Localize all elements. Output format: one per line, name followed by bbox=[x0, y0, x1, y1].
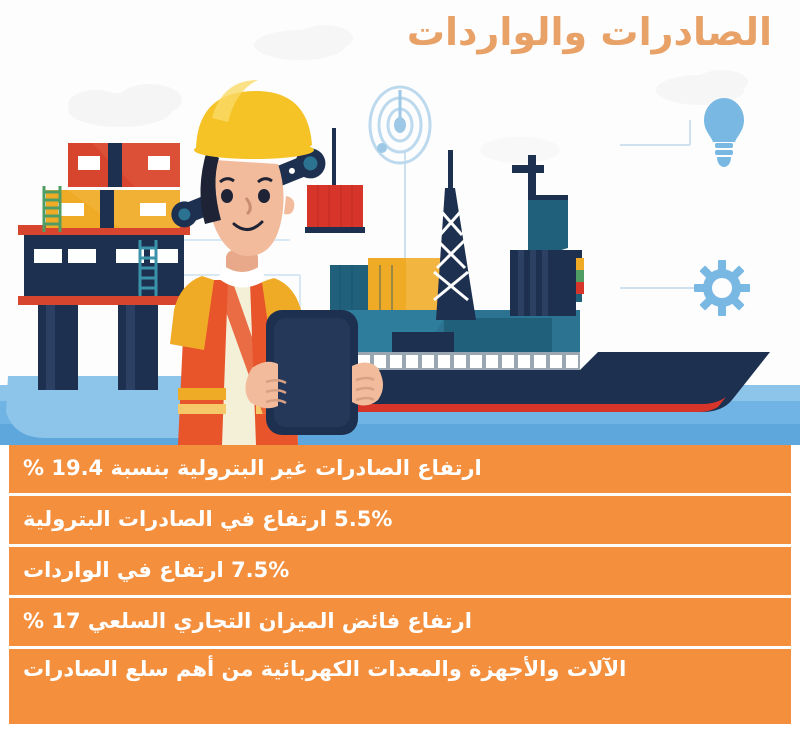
ladder bbox=[140, 240, 156, 296]
vest-stripe bbox=[178, 388, 226, 400]
statement-text: 7.5% ارتفاع في الواردات bbox=[23, 558, 289, 583]
cloud-icon bbox=[480, 137, 560, 163]
target-marker-dot bbox=[377, 143, 387, 153]
deck-windows bbox=[342, 355, 578, 368]
statement-bar-trade-balance-surplus[interactable]: ارتفاع فائض الميزان التجاري السلعي 17 % bbox=[9, 598, 791, 646]
statement-text: 5.5% ارتفاع في الصادرات البترولية bbox=[23, 507, 392, 532]
statement-bar-non-oil-exports[interactable]: ارتفاع الصادرات غير البترولية بنسبة 19.4… bbox=[9, 445, 791, 493]
statement-text: ارتفاع فائض الميزان التجاري السلعي 17 % bbox=[23, 609, 472, 634]
vest-stripe bbox=[178, 404, 226, 414]
worker-eye bbox=[258, 189, 270, 203]
clipboard-screen bbox=[274, 318, 350, 427]
statement-text: ارتفاع الصادرات غير البترولية بنسبة 19.4… bbox=[23, 456, 482, 481]
infographic-page: الصادرات والواردات ارتفاع الصادرات غير ا… bbox=[0, 0, 800, 733]
statement-text: الآلات والأجهزة والمعدات الكهربائية من أ… bbox=[23, 657, 626, 682]
illustration-panel bbox=[0, 0, 800, 445]
statement-bar-imports[interactable]: 7.5% ارتفاع في الواردات bbox=[9, 547, 791, 595]
worker-eye bbox=[221, 189, 233, 203]
hanging-container bbox=[305, 185, 365, 233]
hard-hat-brim bbox=[194, 141, 314, 159]
statement-bars: ارتفاع الصادرات غير البترولية بنسبة 19.4… bbox=[0, 445, 800, 733]
ladder bbox=[44, 186, 60, 232]
statement-bar-top-export-goods[interactable]: الآلات والأجهزة والمعدات الكهربائية من أ… bbox=[9, 649, 791, 724]
gear-icon bbox=[694, 260, 750, 316]
page-title: الصادرات والواردات bbox=[407, 8, 772, 57]
statement-bar-oil-exports[interactable]: 5.5% ارتفاع في الصادرات البترولية bbox=[9, 496, 791, 544]
